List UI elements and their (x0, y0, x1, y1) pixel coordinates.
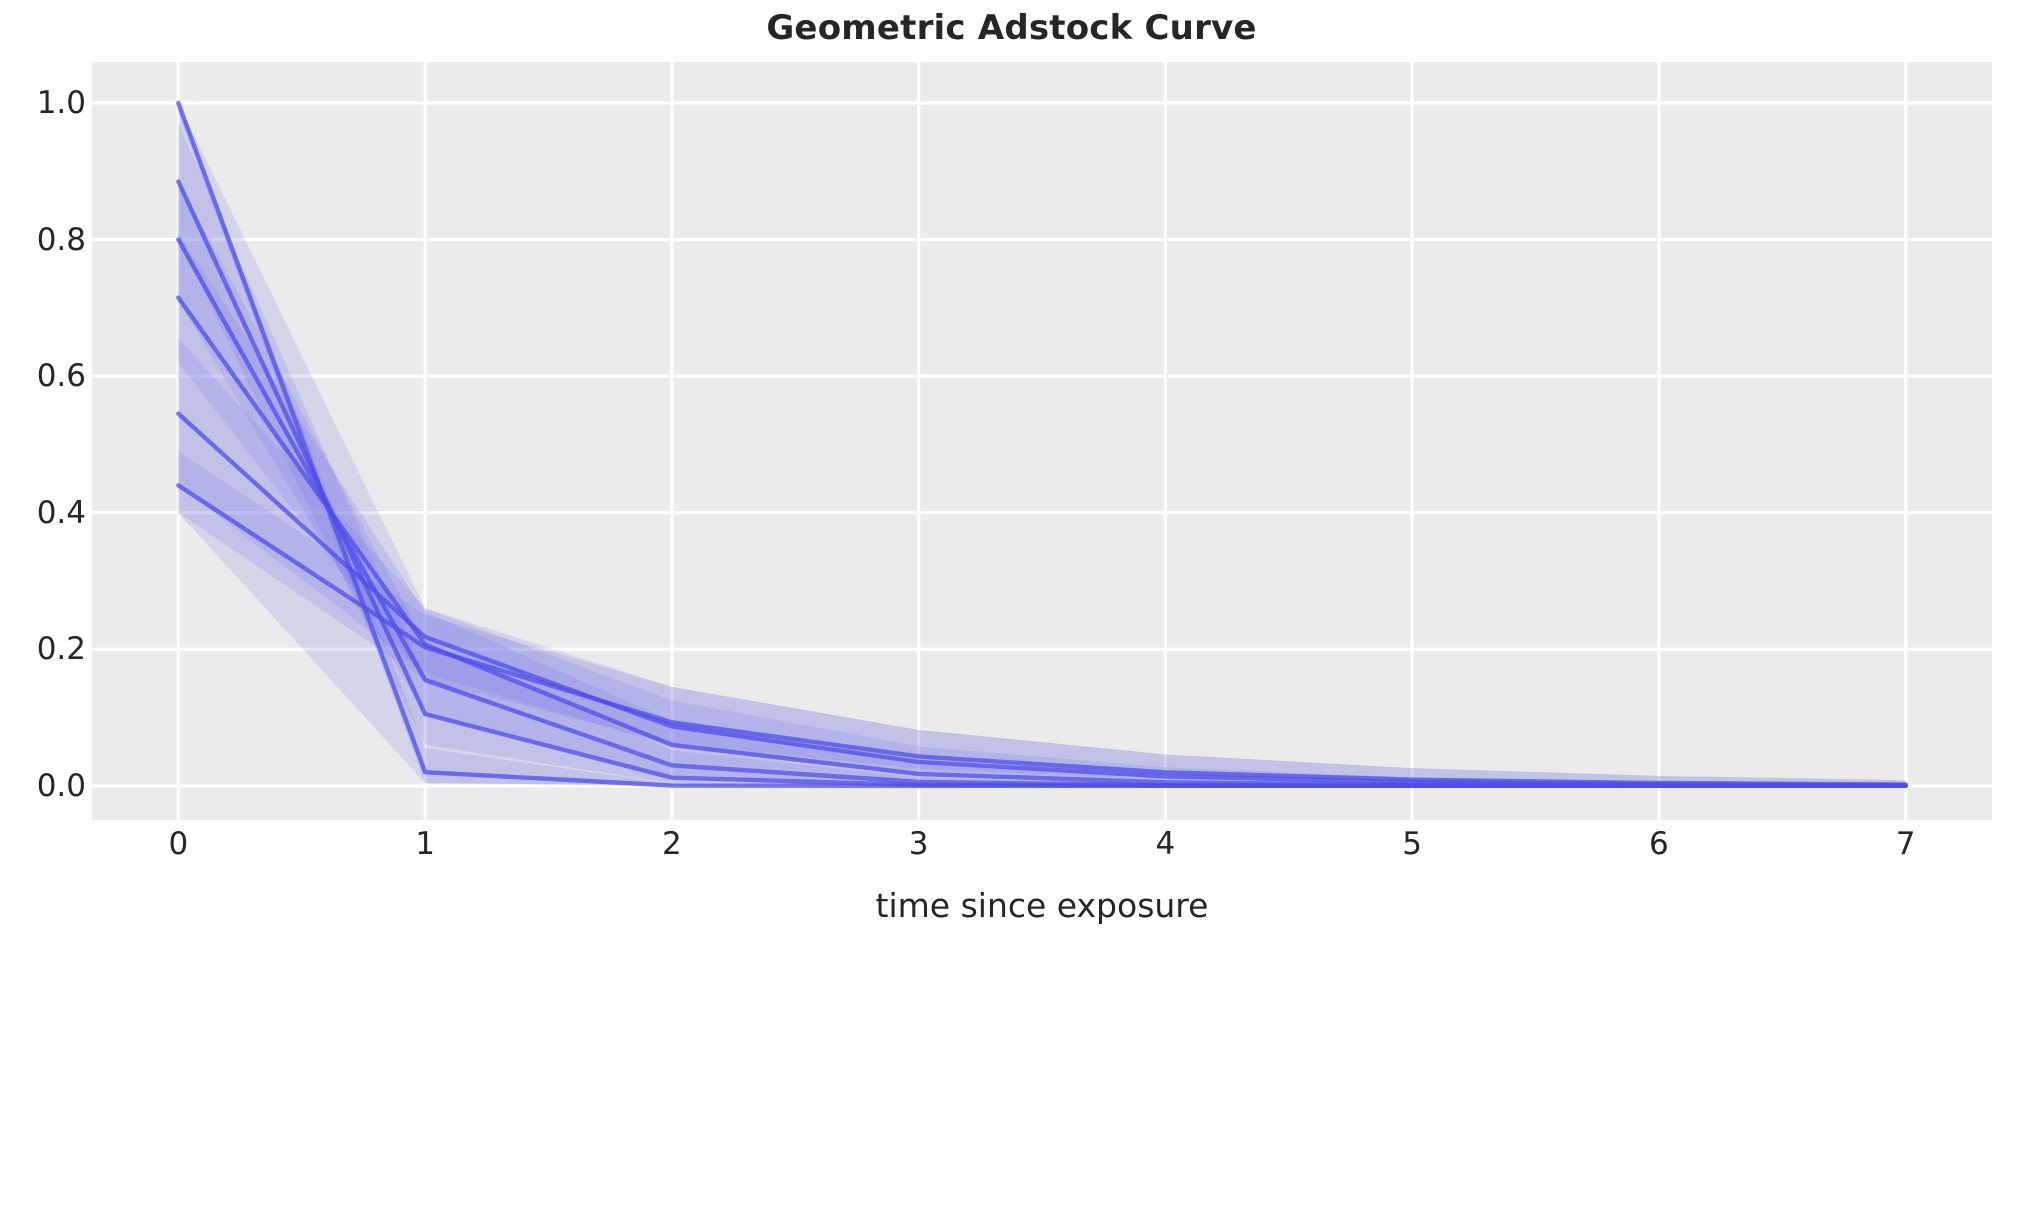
x-tick-label-0: 0 (168, 826, 188, 862)
y-axis-tick-labels: 0.00.20.40.60.81.0 (0, 62, 86, 820)
x-axis-tick-labels: 01234567 (92, 826, 1992, 882)
x-tick-label-6: 6 (1649, 826, 1669, 862)
y-tick-label-3: 0.6 (10, 358, 86, 394)
y-tick-label-5: 1.0 (10, 85, 86, 121)
y-tick-label-2: 0.4 (10, 495, 86, 531)
x-tick-label-5: 5 (1402, 826, 1422, 862)
x-tick-label-2: 2 (662, 826, 682, 862)
x-tick-label-4: 4 (1156, 826, 1176, 862)
band-alpha=0.16 (178, 182, 1905, 786)
plot-svg (92, 62, 1992, 820)
chart-figure: Geometric Adstock Curve 0.00.20.40.60.81… (0, 0, 2023, 1223)
x-tick-label-7: 7 (1896, 826, 1916, 862)
x-axis-label: time since exposure (92, 886, 1992, 925)
plot-area (92, 62, 1992, 820)
y-tick-label-0: 0.0 (10, 768, 86, 804)
x-tick-label-1: 1 (415, 826, 435, 862)
y-tick-label-1: 0.2 (10, 631, 86, 667)
y-tick-label-4: 0.8 (10, 222, 86, 258)
x-tick-label-3: 3 (909, 826, 929, 862)
chart-title: Geometric Adstock Curve (0, 8, 2023, 48)
series-line-layer (178, 103, 1905, 786)
